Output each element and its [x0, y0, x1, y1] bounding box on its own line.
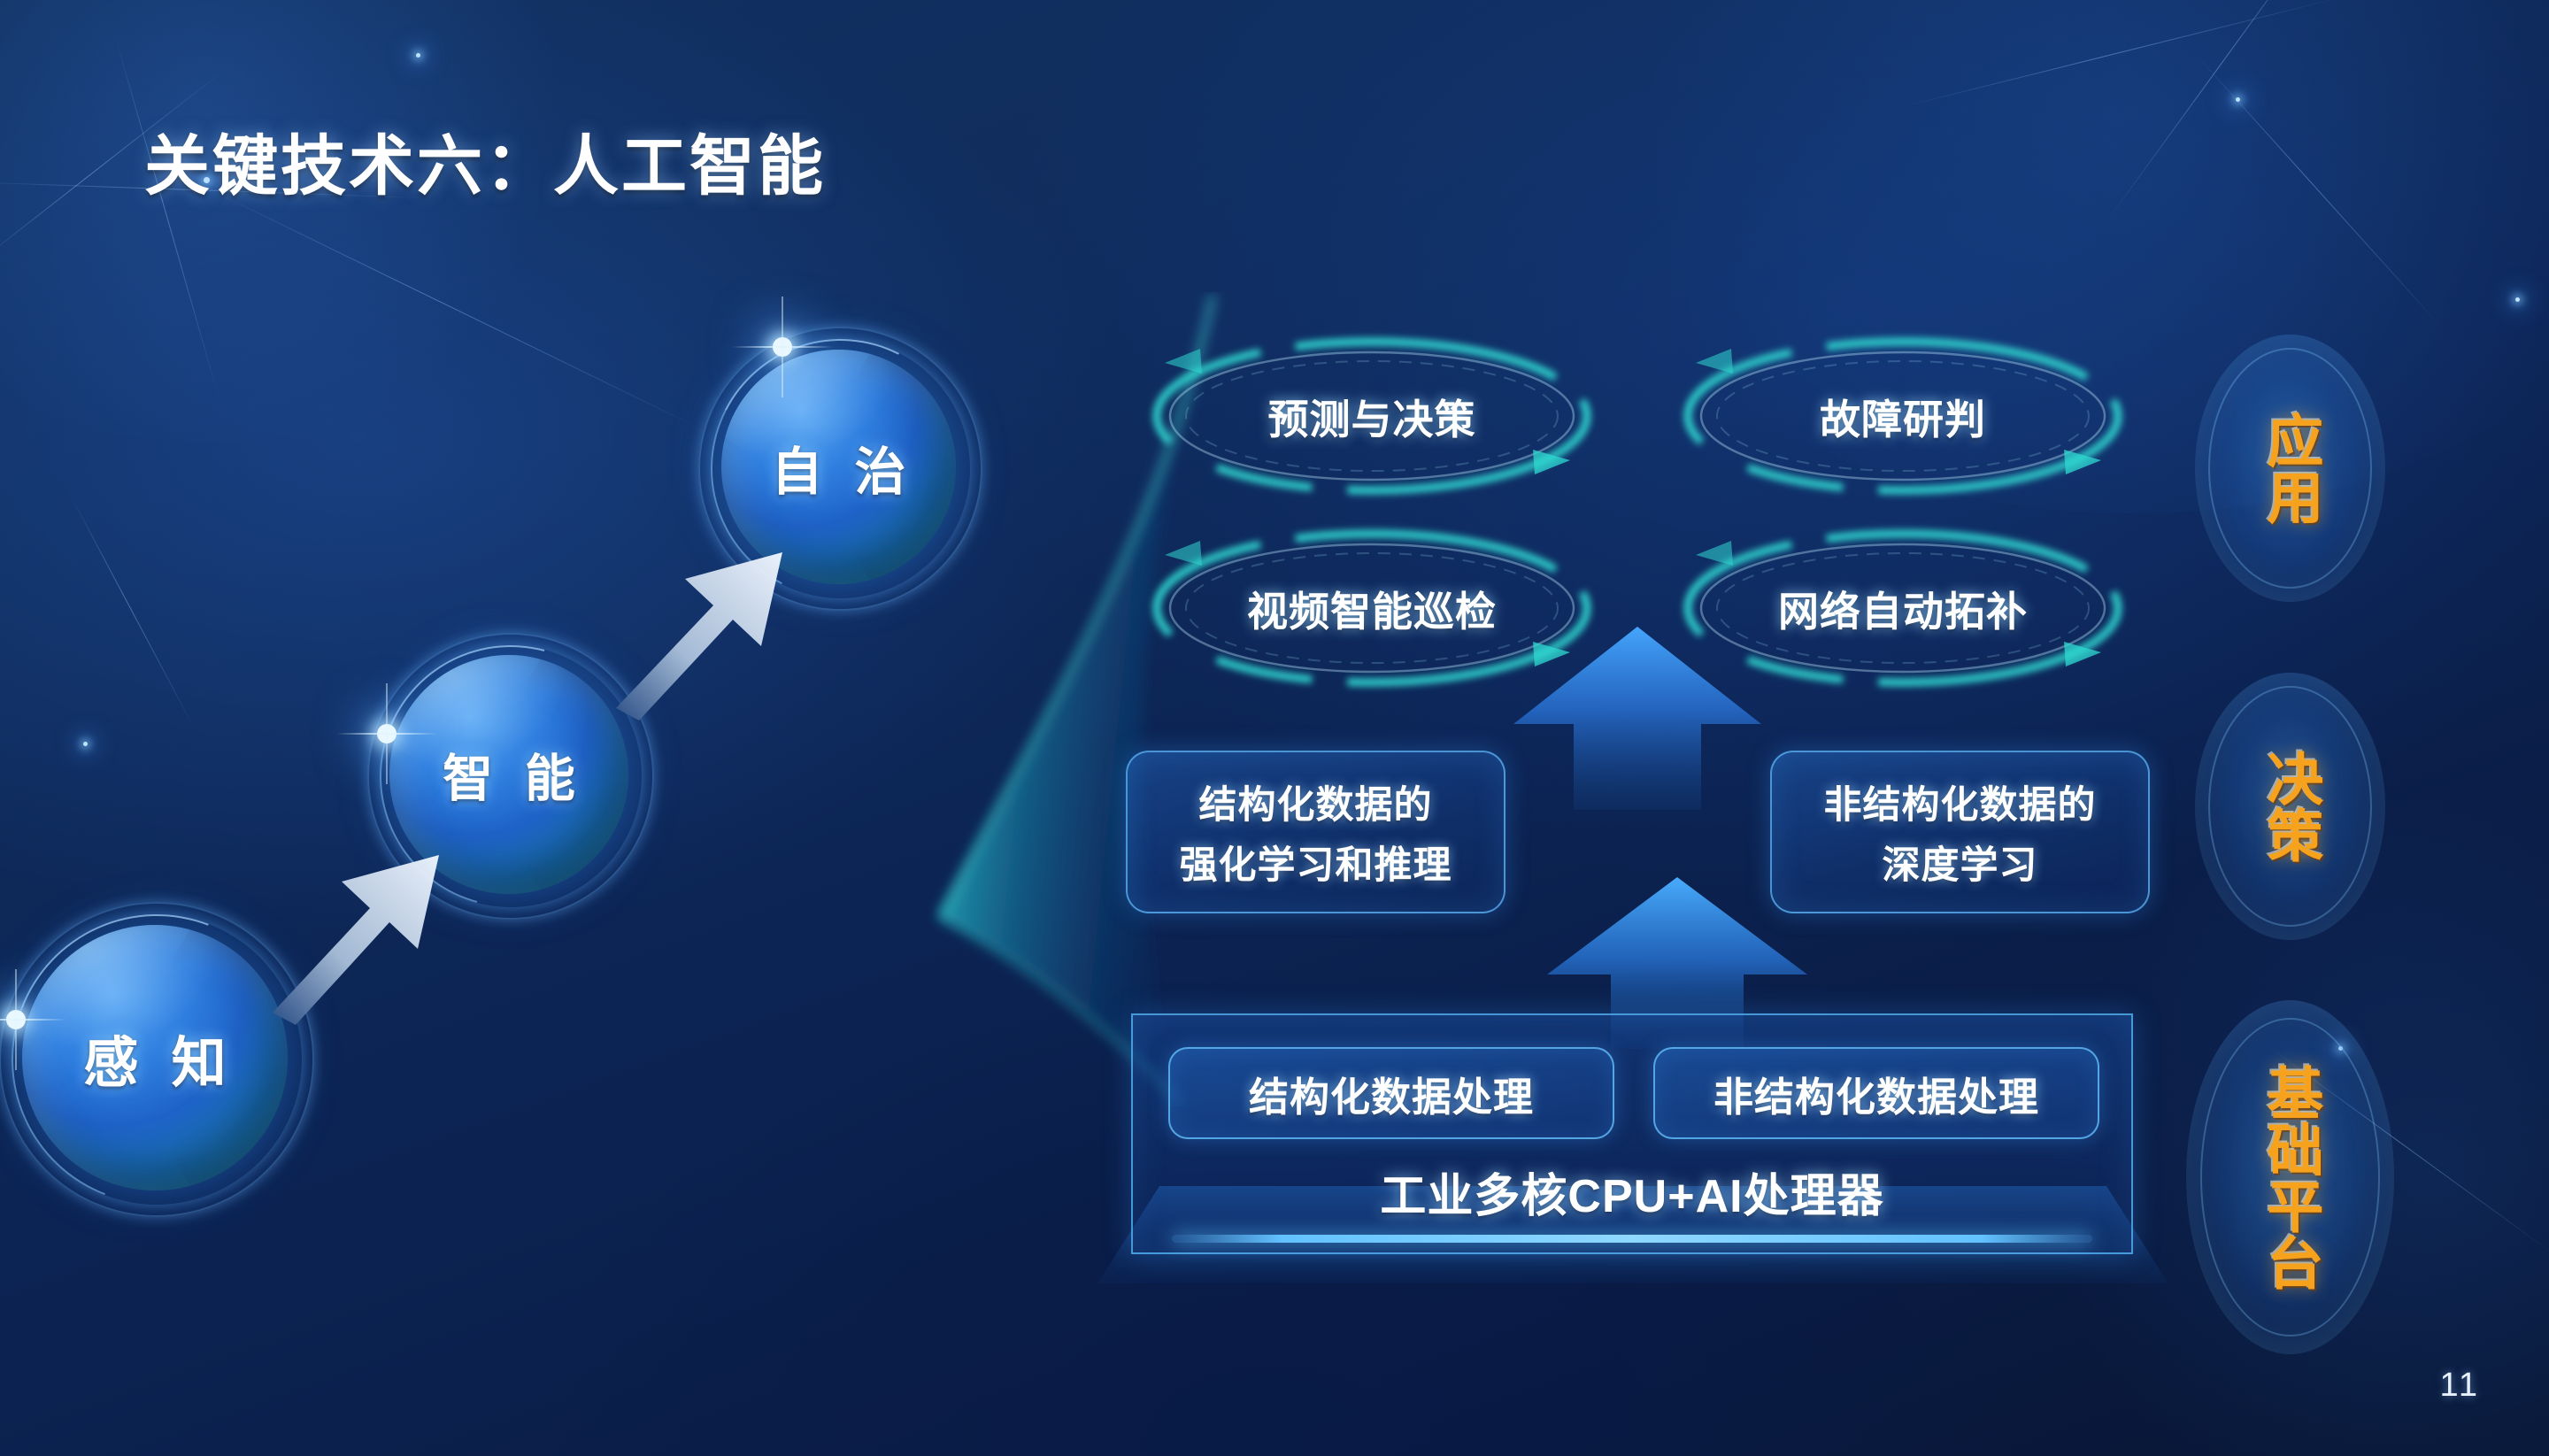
flow-arrow-decision-to-application	[1496, 620, 1779, 810]
application-capsule-label: 网络自动拓补	[1778, 580, 2028, 638]
decision-box-line2: 深度学习	[1883, 835, 2038, 890]
decision-box-line2: 强化学习和推理	[1180, 835, 1452, 890]
layer-label-platform: 基础平台	[2186, 1000, 2394, 1354]
layer-label-text: 应用	[2261, 412, 2320, 525]
decision-box-structured[interactable]: 结构化数据的 强化学习和推理	[1126, 751, 1506, 913]
layer-label-application: 应用	[2195, 335, 2385, 602]
platform-box-unstructured-processing[interactable]: 非结构化数据处理	[1653, 1047, 2099, 1139]
platform-box-structured-processing[interactable]: 结构化数据处理	[1168, 1047, 1614, 1139]
stage-label-autonomy: 自 治	[721, 350, 956, 584]
layer-label-decision: 决策	[2195, 673, 2385, 940]
platform-box-label: 非结构化数据处理	[1713, 1065, 2039, 1122]
decision-box-line1: 结构化数据的	[1199, 774, 1433, 829]
decision-box-unstructured[interactable]: 非结构化数据的 深度学习	[1770, 751, 2150, 913]
stage-sphere-intelligence: 智 能	[389, 655, 628, 894]
platform-base-bar	[1172, 1235, 2092, 1243]
application-capsule-label: 故障研判	[1820, 388, 1986, 446]
decision-box-line1: 非结构化数据的	[1824, 774, 2097, 829]
platform-hardware-label: 工业多核CPU+AI处理器	[1133, 1159, 2131, 1225]
page-number: 11	[2440, 1367, 2480, 1405]
layer-label-text: 基础平台	[2261, 1064, 2320, 1290]
application-capsule-label: 视频智能巡检	[1247, 580, 1497, 638]
platform-box-label: 结构化数据处理	[1249, 1065, 1534, 1122]
application-capsule-fault-diagnosis[interactable]: 故障研判	[1682, 335, 2124, 498]
slide-root: 关键技术六：人工智能 感 知 智 能 自 治	[0, 0, 2549, 1456]
stage-label-intelligence: 智 能	[389, 655, 628, 894]
application-capsule-label: 预测与决策	[1268, 388, 1476, 446]
layer-label-text: 决策	[2261, 750, 2320, 863]
slide-title: 关键技术六：人工智能	[144, 113, 826, 208]
base-platform-panel: 结构化数据处理 非结构化数据处理 工业多核CPU+AI处理器	[1131, 1013, 2133, 1254]
stage-label-perception: 感 知	[22, 925, 288, 1190]
application-capsule-forecast[interactable]: 预测与决策	[1151, 335, 1593, 498]
stage-sphere-autonomy: 自 治	[721, 350, 956, 584]
stage-sphere-perception: 感 知	[22, 925, 288, 1190]
